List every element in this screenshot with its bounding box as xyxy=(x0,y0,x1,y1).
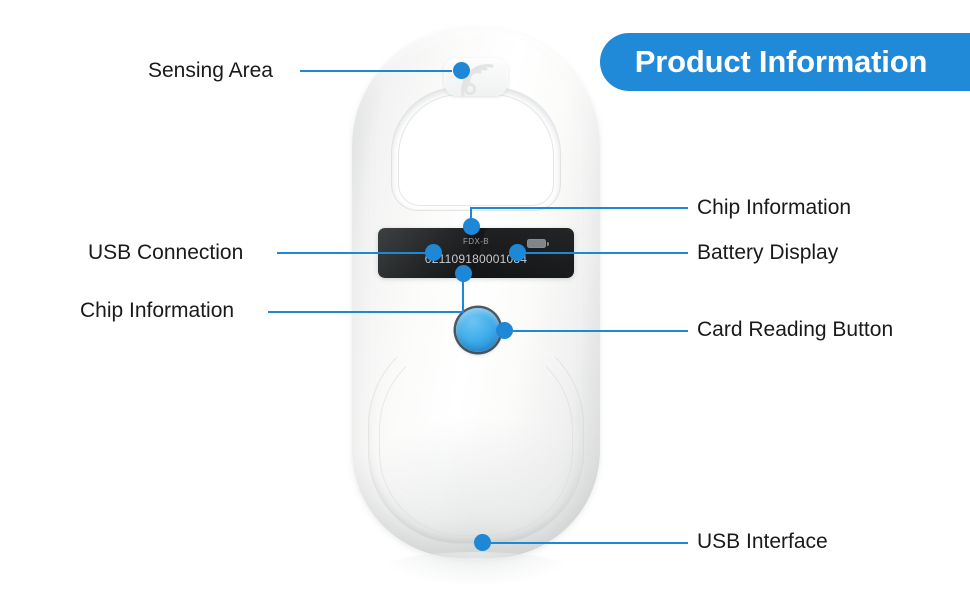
device-handle-ring xyxy=(398,94,554,206)
callout-label-sensing-area: Sensing Area xyxy=(148,60,273,81)
callout-label-chip-information-right: Chip Information xyxy=(697,197,851,218)
banner-title: Product Information xyxy=(635,44,927,80)
card-reading-button[interactable] xyxy=(456,308,500,352)
callout-line-chip-information-left xyxy=(268,311,464,313)
product-information-banner: Product Information xyxy=(600,33,970,91)
callout-line-usb-connection xyxy=(277,252,435,254)
microchip-reader-device: FDX-B 021109180001084 xyxy=(352,28,600,558)
callout-line-chip-information-right xyxy=(470,207,688,209)
device-reflection xyxy=(380,552,572,586)
battery-icon xyxy=(527,239,546,248)
callout-line-card-reading-button xyxy=(508,330,688,332)
callout-label-usb-connection: USB Connection xyxy=(88,242,243,263)
screen-chip-number: 021109180001084 xyxy=(378,252,574,266)
callout-dot-sensing-area xyxy=(453,62,470,79)
callout-dot-usb-connection xyxy=(425,244,442,261)
callout-line-battery-display xyxy=(520,252,688,254)
product-information-diagram: Product Information FDX-B 02110918000108… xyxy=(0,0,970,600)
callout-label-card-reading-button: Card Reading Button xyxy=(697,319,893,340)
device-body-seam-inner xyxy=(379,340,573,536)
callout-label-usb-interface: USB Interface xyxy=(697,531,828,552)
callout-line-chip-information-right-riser xyxy=(470,208,472,228)
callout-dot-chip-information-left xyxy=(455,265,472,282)
callout-line-usb-interface xyxy=(486,542,688,544)
callout-label-chip-information-left: Chip Information xyxy=(80,300,234,321)
callout-label-battery-display: Battery Display xyxy=(697,242,838,263)
callout-line-sensing-area xyxy=(300,70,452,72)
